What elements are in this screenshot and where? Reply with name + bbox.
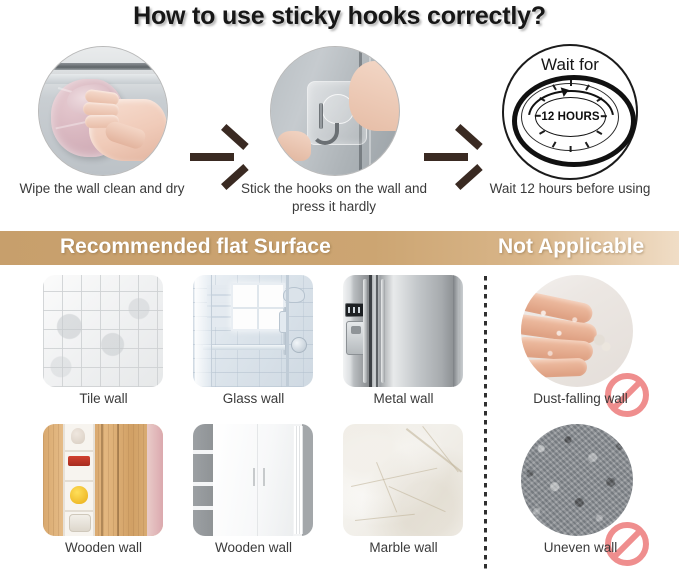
clock-tick: [570, 146, 572, 152]
surface-item-dust-falling-wall: Dust-falling wall: [505, 275, 655, 423]
arrow-head-upper: [221, 124, 249, 150]
recommended-surface-heading: Recommended flat Surface: [60, 235, 331, 259]
fridge-handle: [363, 279, 367, 383]
arrow-shaft: [424, 153, 468, 161]
marble-surface: [343, 424, 463, 536]
toy-train: [68, 456, 90, 466]
dusty-fingers-circle-photo: [521, 275, 633, 387]
step-2-caption: Stick the hooks on the wall and press it…: [234, 180, 434, 216]
surface-item-marble-wall: Marble wall: [328, 424, 478, 572]
clock-tick: [570, 80, 572, 86]
step-1: Wipe the wall clean and dry: [16, 44, 188, 214]
book: [69, 514, 91, 532]
fridge-door-gap: [369, 275, 372, 387]
dust-specks: [521, 275, 633, 387]
toy-bunny: [71, 428, 85, 444]
wardrobe-slats: [294, 426, 303, 534]
fridge-handle: [381, 279, 385, 383]
toy-duck: [70, 486, 88, 504]
shelf-divider: [65, 510, 93, 512]
door-handle: [263, 468, 265, 486]
glass-wall-scene: [193, 275, 313, 387]
step-1-caption: Wipe the wall clean and dry: [2, 180, 202, 198]
surface-label: Dust-falling wall: [493, 391, 668, 406]
white-wardrobe-thumbnail: [193, 424, 313, 536]
fridge-right-edge: [453, 275, 459, 387]
tile-wall-thumbnail: [43, 275, 163, 387]
hand-pressing-transparent-hook-on-wall-image: [270, 46, 400, 176]
surface-label: Marble wall: [316, 540, 491, 555]
surface-item-metal-wall: Metal wall: [328, 275, 478, 423]
fridge-door-gap: [376, 275, 378, 387]
step-2: Stick the hooks on the wall and press it…: [248, 44, 420, 214]
wardrobe-door-seam: [117, 424, 119, 536]
wall-ledge-dark: [38, 63, 168, 70]
tile-pattern: [43, 275, 163, 387]
shelf-divider: [65, 480, 93, 482]
shelf-divider: [193, 506, 215, 510]
shelf-divider: [65, 450, 93, 452]
shelf-divider: [193, 450, 215, 454]
wardrobe-door: [213, 424, 295, 536]
surface-item-wooden-wall-white: Wooden wall: [178, 424, 328, 572]
surface-label: Wooden wall: [16, 540, 191, 555]
concrete-texture: [521, 424, 633, 536]
surface-item-wooden-wall-natural: Wooden wall: [28, 424, 178, 572]
surface-item-uneven-wall: Uneven wall: [505, 424, 655, 572]
clock-illustration: Wait for 12 HOURS: [502, 44, 638, 180]
wood-grain-panel: [43, 424, 163, 536]
surface-label: Wooden wall: [166, 540, 341, 555]
wardrobe-door-seam: [257, 424, 258, 536]
marble-tile-thumbnail: [343, 424, 463, 536]
glass-door-left: [195, 275, 212, 387]
section-banner: Recommended flat Surface Not Applicable: [0, 231, 679, 265]
surface-label: Glass wall: [166, 391, 341, 406]
hand: [349, 61, 400, 131]
window: [231, 283, 285, 331]
natural-wood-wardrobe-thumbnail: [43, 424, 163, 536]
surface-item-tile-wall: Tile wall: [28, 275, 178, 423]
arrow-head-upper: [455, 124, 483, 150]
arrow-shaft: [190, 153, 234, 161]
rough-concrete-circle-photo: [521, 424, 633, 536]
page-title: How to use sticky hooks correctly?: [0, 2, 679, 31]
glass-door-edge: [286, 275, 289, 387]
shelf-divider: [193, 482, 215, 486]
shower-knob: [291, 337, 307, 353]
step-3-caption: Wait 12 hours before using: [470, 180, 670, 198]
fridge-body: [343, 275, 463, 387]
surface-label: Uneven wall: [493, 540, 668, 555]
step-3: Wait for 12 HOURS Wait 12 hours before u…: [484, 44, 656, 214]
arrow-step2-to-step3: [424, 140, 486, 174]
glass-shower-wall-thumbnail: [193, 275, 313, 387]
stainless-steel-fridge-thumbnail: [343, 275, 463, 387]
door-handle: [253, 468, 255, 486]
steps-row: Wipe the wall clean and dry Stick the ho…: [0, 44, 679, 214]
wardrobe-door-seam: [101, 424, 103, 536]
clock-center-oval: 12 HOURS: [535, 97, 606, 137]
open-shelf: [63, 424, 95, 536]
clock-center-label: 12 HOURS: [541, 111, 599, 123]
surface-label: Tile wall: [16, 391, 191, 406]
hand-wiping-wall-with-cloth-image: [38, 46, 168, 176]
white-wardrobe: [193, 424, 313, 536]
shower-ledge: [203, 345, 285, 350]
surface-item-glass-wall: Glass wall: [178, 275, 328, 423]
surface-label: Metal wall: [316, 391, 491, 406]
surfaces-grid: Tile wall Glass wall: [0, 272, 679, 581]
clock-top-label: Wait for: [502, 55, 638, 75]
not-applicable-heading: Not Applicable: [498, 235, 644, 259]
arrow-step1-to-step2: [190, 140, 252, 174]
wall-right-strip: [147, 424, 163, 536]
side-shelf-unit: [193, 424, 215, 536]
finger: [277, 131, 311, 161]
